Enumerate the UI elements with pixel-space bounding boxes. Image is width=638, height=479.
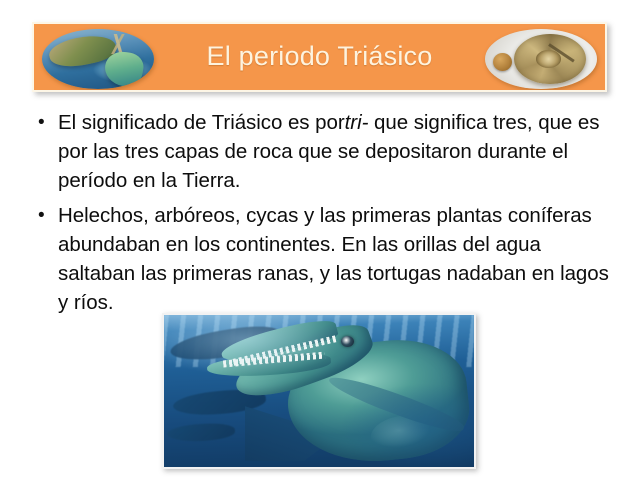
bullet-text: Helechos, arbóreos, cycas y las primeras… bbox=[58, 201, 612, 317]
list-item: • El significado de Triásico es portri- … bbox=[32, 108, 612, 195]
slide-canvas: El periodo Triásico • El significado de … bbox=[0, 0, 638, 479]
water-light-glow bbox=[164, 315, 474, 467]
ammonite-fossil-oval-image bbox=[485, 29, 597, 89]
sea-artwork bbox=[164, 315, 474, 467]
ammonite-shell bbox=[514, 34, 586, 84]
bullet-text: El significado de Triásico es portri- qu… bbox=[58, 108, 612, 195]
bullet-segment-normal: El significado de Triásico es por bbox=[58, 111, 345, 134]
bullet-marker-icon: • bbox=[32, 201, 58, 230]
ammonite-artwork bbox=[485, 29, 597, 89]
body-text-block: • El significado de Triásico es portri- … bbox=[32, 108, 612, 323]
bullet-segment-italic: tri- bbox=[345, 111, 369, 134]
marine-reptile-underwater-illustration bbox=[162, 313, 476, 469]
list-item: • Helechos, arbóreos, cycas y las primer… bbox=[32, 201, 612, 317]
bullet-marker-icon: • bbox=[32, 108, 58, 137]
title-band: El periodo Triásico bbox=[32, 22, 607, 92]
scale-coin bbox=[493, 53, 512, 71]
